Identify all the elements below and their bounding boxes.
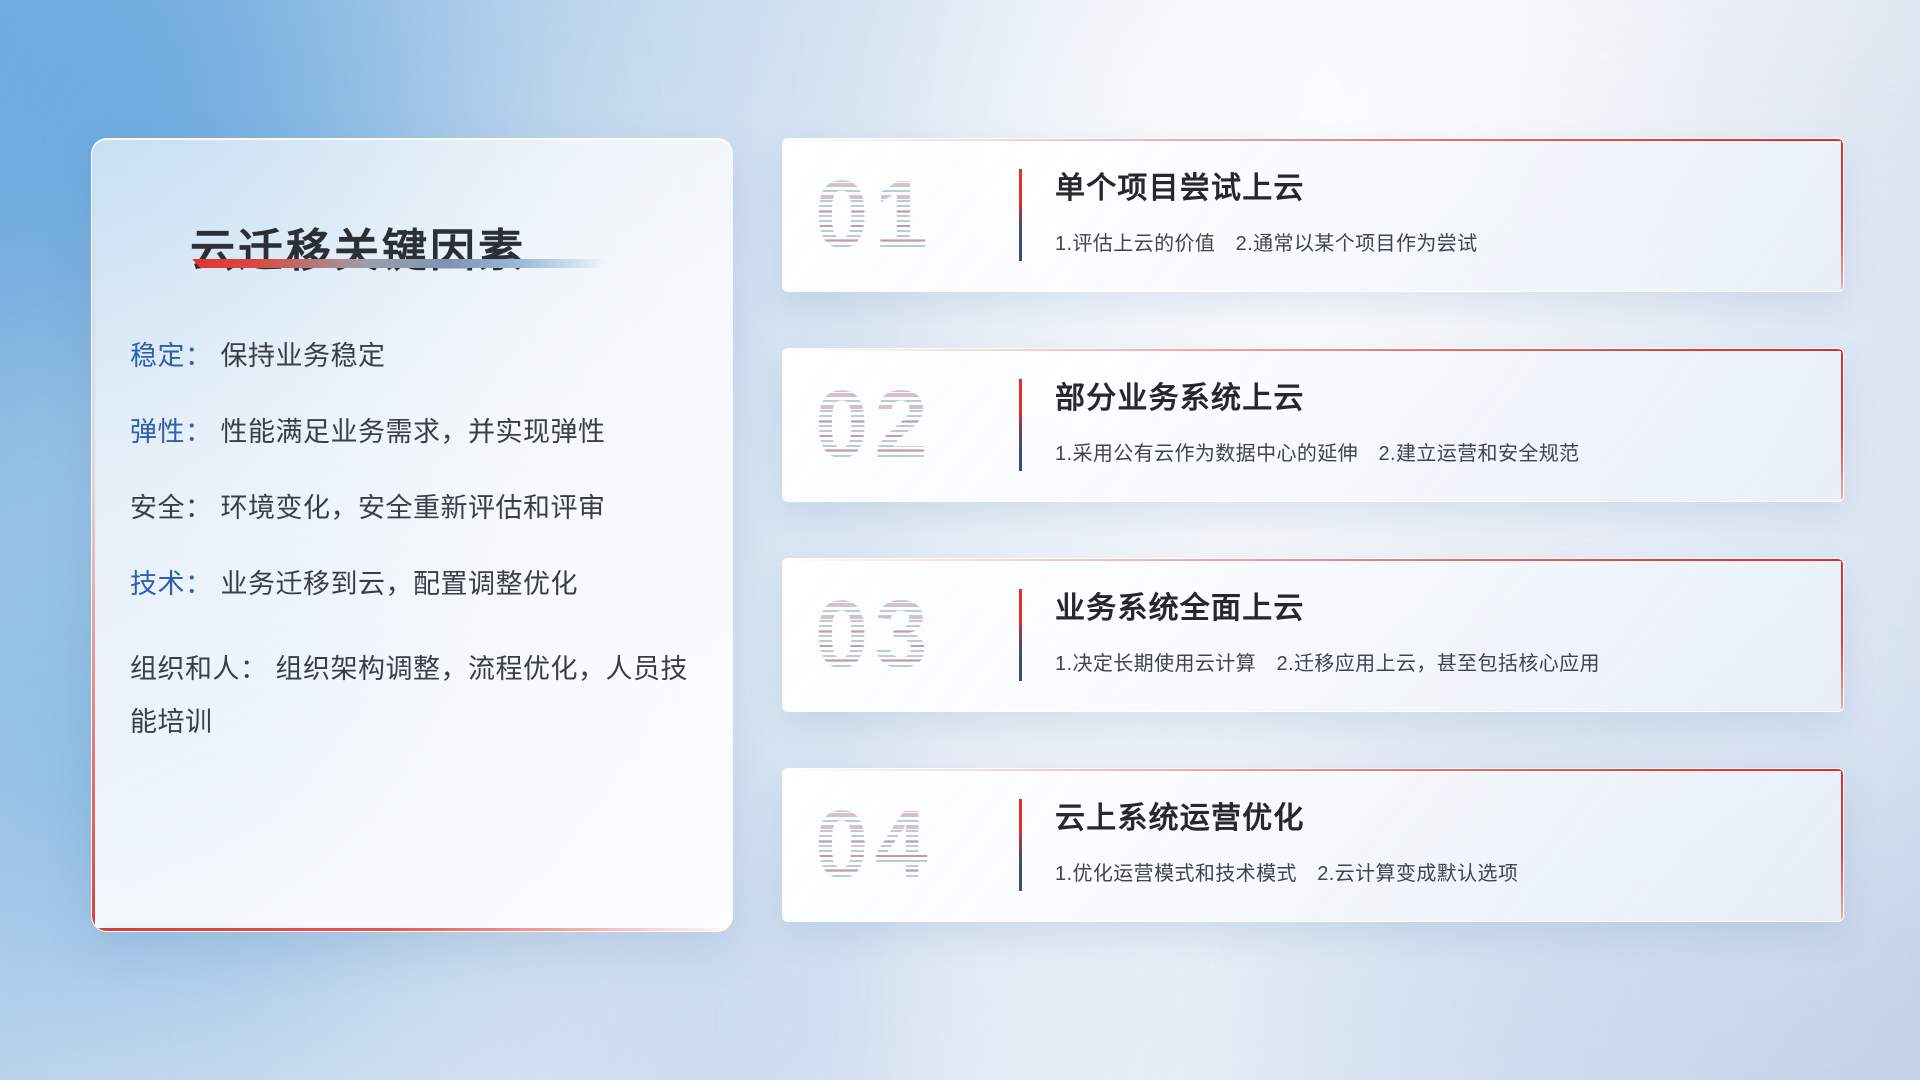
list-item: 安全： 环境变化，安全重新评估和评审 — [130, 491, 706, 525]
card-right-accent-line — [1841, 769, 1843, 921]
list-item-key: 技术： — [130, 569, 213, 599]
card-heading: 业务系统全面上云 — [1055, 583, 1803, 627]
stage-card-03[interactable]: 03 03 业务系统全面上云 1.决定长期使用云计算 2.迁移应用上云，甚至包括… — [782, 558, 1844, 712]
card-divider-bar — [1019, 379, 1022, 471]
title-underline-bar — [192, 259, 607, 268]
card-divider-bar — [1019, 799, 1022, 891]
card-divider-bar — [1019, 169, 1022, 261]
list-item-key: 稳定： — [130, 341, 213, 371]
card-number-watermark-tint: 04 — [815, 785, 1005, 905]
list-item: 组织和人： 组织架构调整，流程优化，人员技能培训 — [130, 643, 706, 748]
card-top-accent-line — [783, 559, 1843, 561]
card-right-accent-line — [1841, 349, 1843, 501]
stage-card-01[interactable]: 01 01 单个项目尝试上云 1.评估上云的价值 2.通常以某个项目作为尝试 — [782, 138, 1844, 292]
card-body: 业务系统全面上云 1.决定长期使用云计算 2.迁移应用上云，甚至包括核心应用 — [1055, 583, 1803, 696]
card-number-watermark-tint: 01 — [815, 155, 1005, 275]
card-top-accent-line — [783, 349, 1843, 351]
list-item-key: 弹性： — [130, 417, 213, 447]
card-top-accent-line — [783, 769, 1843, 771]
card-description: 1.决定长期使用云计算 2.迁移应用上云，甚至包括核心应用 — [1055, 647, 1803, 676]
card-right-accent-line — [1841, 559, 1843, 711]
list-item: 技术： 业务迁移到云，配置调整优化 — [130, 567, 706, 601]
key-factors-list: 稳定： 保持业务稳定 弹性： 性能满足业务需求，并实现弹性 安全： 环境变化，安… — [130, 339, 706, 790]
list-item: 稳定： 保持业务稳定 — [130, 339, 706, 373]
migration-stage-cards: 01 01 单个项目尝试上云 1.评估上云的价值 2.通常以某个项目作为尝试 0… — [782, 138, 1844, 922]
stage-card-02[interactable]: 02 02 部分业务系统上云 1.采用公有云作为数据中心的延伸 2.建立运营和安… — [782, 348, 1844, 502]
card-description: 1.评估上云的价值 2.通常以某个项目作为尝试 — [1055, 227, 1803, 256]
page-title: 云迁移关键因素 — [190, 214, 526, 279]
card-body: 部分业务系统上云 1.采用公有云作为数据中心的延伸 2.建立运营和安全规范 — [1055, 373, 1803, 486]
stage-card-04[interactable]: 04 04 云上系统运营优化 1.优化运营模式和技术模式 2.云计算变成默认选项 — [782, 768, 1844, 922]
card-divider-bar — [1019, 589, 1022, 681]
key-factors-panel: 云迁移关键因素 稳定： 保持业务稳定 弹性： 性能满足业务需求，并实现弹性 安全… — [91, 138, 733, 932]
card-number-watermark-tint: 02 — [815, 365, 1005, 485]
card-number-watermark-tint: 03 — [815, 575, 1005, 695]
list-item-value: 性能满足业务需求，并实现弹性 — [221, 417, 606, 447]
slide-stage: 云迁移关键因素 稳定： 保持业务稳定 弹性： 性能满足业务需求，并实现弹性 安全… — [0, 0, 1920, 1080]
card-description: 1.采用公有云作为数据中心的延伸 2.建立运营和安全规范 — [1055, 437, 1803, 466]
card-body: 单个项目尝试上云 1.评估上云的价值 2.通常以某个项目作为尝试 — [1055, 163, 1803, 276]
card-heading: 云上系统运营优化 — [1055, 793, 1803, 837]
card-body: 云上系统运营优化 1.优化运营模式和技术模式 2.云计算变成默认选项 — [1055, 793, 1803, 906]
list-item-key: 组织和人： — [130, 654, 268, 684]
list-item-value: 保持业务稳定 — [221, 341, 386, 371]
list-item-value: 业务迁移到云，配置调整优化 — [221, 569, 579, 599]
list-item: 弹性： 性能满足业务需求，并实现弹性 — [130, 415, 706, 449]
list-item-value: 环境变化，安全重新评估和评审 — [221, 493, 606, 523]
card-heading: 单个项目尝试上云 — [1055, 163, 1803, 207]
card-heading: 部分业务系统上云 — [1055, 373, 1803, 417]
list-item-key: 安全： — [130, 493, 213, 523]
card-description: 1.优化运营模式和技术模式 2.云计算变成默认选项 — [1055, 857, 1803, 886]
card-right-accent-line — [1841, 139, 1843, 291]
card-top-accent-line — [783, 139, 1843, 141]
